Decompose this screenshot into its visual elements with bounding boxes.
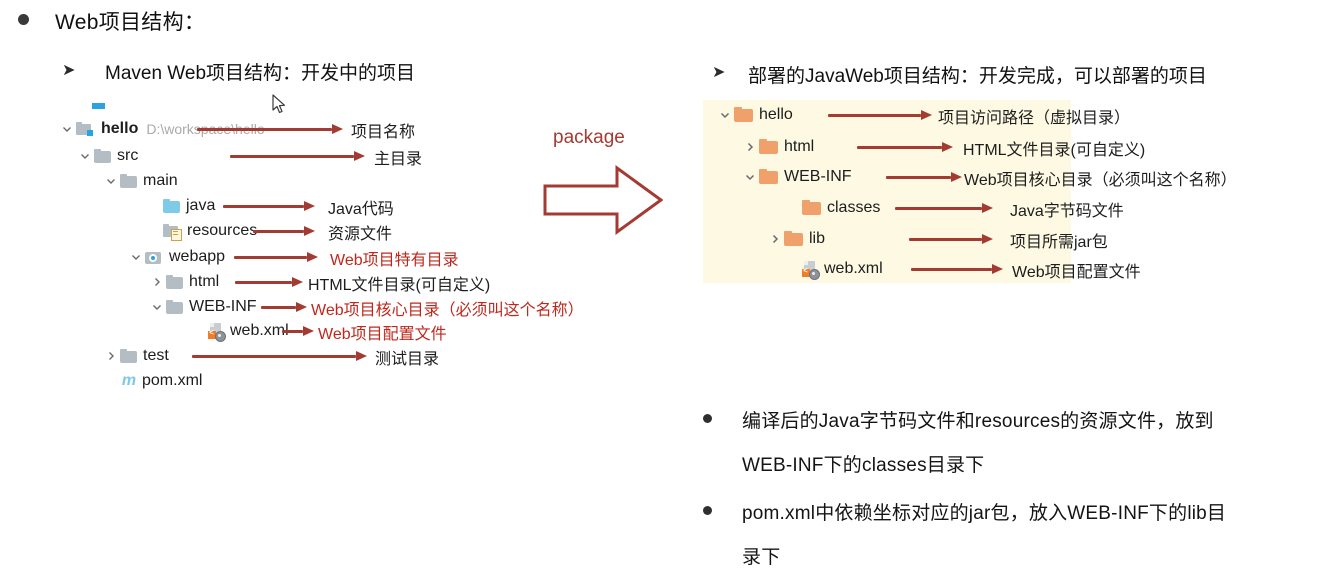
annotation-label: 资源文件 — [328, 220, 392, 244]
deployed-row-html[interactable]: html — [743, 136, 814, 158]
annotation-label: 项目名称 — [351, 118, 415, 142]
xml-file-icon — [802, 261, 820, 278]
tree-node-label: html — [784, 138, 814, 156]
annotation-label: HTML文件目录(可自定义) — [308, 271, 490, 295]
annotation-arrow — [886, 172, 962, 182]
module-icon — [76, 121, 95, 137]
chevron-down-icon[interactable] — [78, 149, 92, 163]
chevron-right-icon[interactable] — [104, 349, 118, 363]
xml-file-icon — [208, 323, 226, 340]
note-line: WEB-INF下的classes目录下 — [742, 450, 984, 477]
tree-node-label: resources — [187, 222, 257, 240]
deployed-row-hello[interactable]: hello — [718, 104, 793, 126]
note-line: 编译后的Java字节码文件和resources的资源文件，放到 — [742, 406, 1214, 433]
folder-orange-icon — [734, 107, 753, 123]
annotation-label: HTML文件目录(可自定义) — [963, 136, 1145, 160]
annotation-arrow — [911, 264, 1003, 274]
tree-node-label: web.xml — [230, 322, 289, 340]
annotation-arrow — [235, 277, 303, 287]
tree-node-label: pom.xml — [142, 372, 202, 390]
tree-node-label: webapp — [169, 248, 225, 266]
package-label: package — [553, 127, 625, 149]
tree-node-label: lib — [809, 230, 825, 248]
note-line: 录下 — [742, 542, 780, 569]
folder-grey-icon — [94, 149, 111, 163]
annotation-label: 主目录 — [374, 145, 422, 169]
maven-icon: m — [120, 373, 138, 389]
tree-row-html[interactable]: html — [150, 271, 219, 293]
chevron-down-icon[interactable] — [60, 122, 74, 136]
note-line: pom.xml中依赖坐标对应的jar包，放入WEB-INF下的lib目 — [742, 498, 1226, 525]
tree-row-pomxml[interactable]: m pom.xml — [104, 370, 202, 392]
annotation-label: 项目所需jar包 — [1010, 228, 1108, 252]
left-heading: Maven Web项目结构：开发中的项目 — [105, 58, 415, 85]
annotation-label: 测试目录 — [375, 345, 439, 369]
chevron-down-icon[interactable] — [129, 250, 143, 264]
tree-node-label: web.xml — [824, 260, 883, 278]
deployed-row-lib[interactable]: lib — [768, 228, 825, 250]
annotation-arrow — [230, 151, 365, 161]
right-heading: 部署的JavaWeb项目结构：开发完成，可以部署的项目 — [748, 61, 1207, 88]
annotation-label: Web项目配置文件 — [1012, 258, 1141, 282]
folder-blue-icon — [163, 199, 180, 213]
chevron-down-icon[interactable] — [743, 170, 757, 184]
folder-orange-icon — [802, 200, 821, 216]
mouse-cursor-icon — [272, 94, 288, 116]
annotation-arrow — [192, 351, 367, 361]
tree-node-label: hello — [759, 106, 793, 124]
left-heading-bullet-icon: ➤ — [62, 62, 75, 78]
slide-title: Web项目结构： — [55, 6, 205, 36]
chevron-right-icon[interactable] — [150, 275, 164, 289]
tree-node-label: html — [189, 273, 219, 291]
tree-row-src[interactable]: src — [78, 145, 138, 167]
top-bullet-marker — [18, 14, 29, 25]
annotation-label: Java代码 — [328, 195, 394, 219]
annotation-label: Web项目核心目录（必须叫这个名称） — [964, 166, 1237, 190]
chevron-right-icon[interactable] — [743, 140, 757, 154]
tree-row-webxml[interactable]: web.xml — [192, 320, 289, 342]
annotation-label: Web项目核心目录（必须叫这个名称） — [311, 296, 584, 320]
annotation-arrow — [253, 226, 315, 236]
annotation-label: Web项目配置文件 — [318, 320, 447, 344]
tree-node-label: WEB-INF — [784, 168, 852, 186]
tree-node-label: test — [143, 347, 169, 365]
annotation-label: Web项目特有目录 — [330, 246, 459, 270]
tree-node-label: java — [186, 197, 215, 215]
annotation-arrow — [282, 326, 314, 336]
tree-row-webinf[interactable]: WEB-INF — [150, 296, 257, 318]
folder-grey-icon — [120, 174, 137, 188]
annotation-arrow — [909, 234, 993, 244]
tree-row-webapp[interactable]: webapp — [129, 246, 225, 268]
tree-row-main[interactable]: main — [104, 170, 178, 192]
package-block-arrow-icon — [543, 164, 663, 236]
chevron-down-icon[interactable] — [104, 174, 118, 188]
annotation-arrow — [895, 203, 993, 213]
right-heading-bullet-icon: ➤ — [712, 64, 725, 80]
annotation-arrow — [828, 110, 932, 120]
chevron-down-icon[interactable] — [150, 300, 164, 314]
folder-grey-icon — [120, 349, 137, 363]
annotation-label: Java字节码文件 — [1010, 197, 1124, 221]
tree-node-label: WEB-INF — [189, 298, 257, 316]
annotation-arrow — [223, 201, 315, 211]
annotation-arrow — [234, 252, 318, 262]
deployed-row-webinf[interactable]: WEB-INF — [743, 166, 852, 188]
webapp-icon — [145, 250, 163, 265]
folder-grey-icon — [166, 275, 183, 289]
tree-node-label: hello — [101, 120, 138, 138]
folder-orange-icon — [784, 231, 803, 247]
tree-node-label: src — [117, 147, 138, 165]
note-bullet-marker — [703, 506, 712, 515]
chevron-down-icon[interactable] — [718, 108, 732, 122]
annotation-arrow — [261, 302, 307, 312]
annotation-label: 项目访问路径（虚拟目录） — [938, 104, 1130, 128]
deployed-row-classes[interactable]: classes — [786, 197, 880, 219]
folder-orange-icon — [759, 139, 778, 155]
tree-row-java[interactable]: java — [147, 195, 215, 217]
chevron-right-icon[interactable] — [768, 232, 782, 246]
annotation-arrow — [197, 124, 343, 134]
tree-node-label: main — [143, 172, 178, 190]
tree-row-test[interactable]: test — [104, 345, 169, 367]
annotation-arrow — [857, 142, 953, 152]
module-marker-icon — [92, 103, 105, 109]
folder-orange-icon — [759, 169, 778, 185]
tree-node-label: classes — [827, 199, 880, 217]
tree-row-resources[interactable]: resources — [147, 220, 257, 242]
note-bullet-marker — [703, 414, 712, 423]
deployed-row-webxml[interactable]: web.xml — [786, 258, 883, 280]
resources-icon — [163, 224, 181, 239]
slide-canvas: Web项目结构： ➤ Maven Web项目结构：开发中的项目 ➤ 部署的Jav… — [0, 0, 1341, 577]
folder-grey-icon — [166, 300, 183, 314]
